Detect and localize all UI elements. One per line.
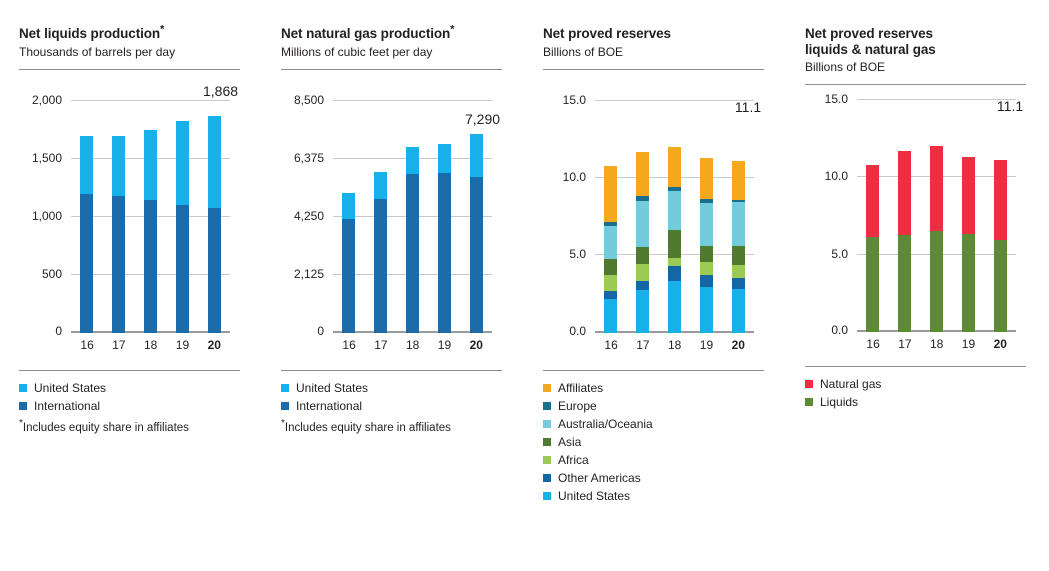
legend-swatch-icon xyxy=(281,384,289,392)
bar-segment xyxy=(208,116,221,209)
legend-item[interactable]: Europe xyxy=(543,397,764,415)
legend-section: AffiliatesEuropeAustralia/OceaniaAsiaAfr… xyxy=(543,370,764,505)
bar[interactable] xyxy=(930,146,943,332)
x-axis-labels-0: 1617181920 xyxy=(71,338,230,352)
bar-segment xyxy=(604,275,617,290)
x-axis-labels-3: 1617181920 xyxy=(857,337,1016,351)
y-axis-tick-label: 0.0 xyxy=(831,323,848,337)
value-callout: 7,290 xyxy=(465,111,500,127)
x-axis-tick-label: 16 xyxy=(604,338,617,352)
bar-segment xyxy=(898,235,911,332)
legend-3: Natural gasLiquids xyxy=(805,375,1026,411)
legend-label: Asia xyxy=(558,435,581,449)
bar[interactable] xyxy=(898,151,911,332)
bar-segment xyxy=(80,194,93,332)
legend-label: International xyxy=(296,399,362,413)
bar-segment xyxy=(636,290,649,333)
legend-swatch-icon xyxy=(543,420,551,428)
x-axis-labels-1: 1617181920 xyxy=(333,338,492,352)
x-axis-tick-label: 16 xyxy=(342,338,355,352)
y-axis-tick-label: 15.0 xyxy=(825,92,848,106)
panel-title: Net natural gas production* xyxy=(281,26,514,42)
bar[interactable] xyxy=(636,152,649,333)
panel-net-liquids-production: Net liquids production* Thousands of bar… xyxy=(0,26,262,505)
panel-title-text: Net natural gas production xyxy=(281,26,450,41)
bar-segment xyxy=(80,136,93,194)
panel-title-text: Net liquids production xyxy=(19,26,160,41)
x-axis-tick-label: 20 xyxy=(208,338,221,352)
legend-label: International xyxy=(34,399,100,413)
x-axis-tick-label: 17 xyxy=(374,338,387,352)
chart-area: 0.05.010.015.0 1617181920 11.1 xyxy=(543,83,776,336)
bar[interactable] xyxy=(470,134,483,333)
chart-area: 0.05.010.015.0 1617181920 11.1 xyxy=(805,82,1038,335)
x-axis-tick-label: 20 xyxy=(994,337,1007,351)
bar[interactable] xyxy=(994,160,1007,332)
bar-segment xyxy=(700,158,713,199)
chart-area: 02,1254,2506,3758,500 1617181920 7,290 xyxy=(281,83,514,336)
y-axis-tick-label: 500 xyxy=(42,267,62,281)
legend-item[interactable]: Africa xyxy=(543,451,764,469)
legend-0: United StatesInternational xyxy=(19,379,240,415)
legend-2: AffiliatesEuropeAustralia/OceaniaAsiaAfr… xyxy=(543,379,764,505)
bar-group xyxy=(857,100,1016,332)
panel-title-line2: liquids & natural gas xyxy=(805,42,936,57)
bar-segment xyxy=(636,264,649,281)
bar-segment xyxy=(374,172,387,199)
bar-segment xyxy=(144,200,157,332)
legend-swatch-icon xyxy=(543,402,551,410)
bar-segment xyxy=(962,234,975,332)
panel-net-proved-reserves: Net proved reserves Billions of BOE 0.05… xyxy=(524,26,786,505)
footnote: *Includes equity share in affiliates xyxy=(19,421,240,435)
bar-segment xyxy=(732,202,745,246)
bar-segment xyxy=(636,247,649,264)
x-axis-tick-label: 18 xyxy=(930,337,943,351)
legend-swatch-icon xyxy=(19,402,27,410)
legend-label: Affiliates xyxy=(558,381,603,395)
legend-label: Australia/Oceania xyxy=(558,417,653,431)
value-callout: 1,868 xyxy=(203,83,238,99)
panel-title-text: Net proved reserves xyxy=(543,26,671,41)
y-axis-tick-label: 4,250 xyxy=(294,209,324,223)
header-divider xyxy=(281,69,502,70)
legend-item[interactable]: Other Americas xyxy=(543,469,764,487)
bar-segment xyxy=(604,299,617,332)
x-axis-tick-label: 17 xyxy=(898,337,911,351)
bar-segment xyxy=(700,287,713,333)
bar-segment xyxy=(176,121,189,205)
legend-divider xyxy=(805,366,1026,367)
bar-segment xyxy=(668,281,681,332)
bar[interactable] xyxy=(438,144,451,332)
bar-segment xyxy=(438,144,451,173)
legend-item[interactable]: United States xyxy=(543,487,764,505)
x-axis-tick-label: 19 xyxy=(176,338,189,352)
legend-1: United StatesInternational xyxy=(281,379,502,415)
bar-segment xyxy=(668,230,681,257)
legend-swatch-icon xyxy=(805,380,813,388)
y-axis-tick-label: 8,500 xyxy=(294,93,324,107)
legend-item[interactable]: Australia/Oceania xyxy=(543,415,764,433)
legend-divider xyxy=(19,370,240,371)
legend-label: United States xyxy=(34,381,106,395)
legend-item[interactable]: Liquids xyxy=(805,393,1026,411)
legend-swatch-icon xyxy=(543,492,551,500)
asterisk-marker: * xyxy=(450,24,454,36)
panel-title: Net proved reservesliquids & natural gas xyxy=(805,26,1038,57)
legend-swatch-icon xyxy=(805,398,813,406)
legend-item[interactable]: United States xyxy=(281,379,502,397)
legend-label: United States xyxy=(296,381,368,395)
bar[interactable] xyxy=(406,147,419,332)
legend-item[interactable]: United States xyxy=(19,379,240,397)
legend-label: Natural gas xyxy=(820,377,881,391)
bar-segment xyxy=(866,237,879,332)
y-axis-tick-label: 6,375 xyxy=(294,151,324,165)
bar-segment xyxy=(962,157,975,234)
y-axis-tick-label: 10.0 xyxy=(825,169,848,183)
plot-2: 0.05.010.015.0 xyxy=(595,101,754,333)
legend-section: United StatesInternational *Includes equ… xyxy=(19,370,240,435)
bar-segment xyxy=(112,196,125,333)
bar[interactable] xyxy=(700,158,713,333)
x-axis-tick-label: 19 xyxy=(700,338,713,352)
panel-title: Net proved reserves xyxy=(543,26,776,42)
panel-subtitle: Billions of BOE xyxy=(543,45,776,60)
bar[interactable] xyxy=(962,157,975,332)
bar-segment xyxy=(994,240,1007,332)
bar[interactable] xyxy=(732,161,745,333)
bar[interactable] xyxy=(866,165,879,332)
chart-area: 05001,0001,5002,000 1617181920 1,868 xyxy=(19,83,252,336)
bar-segment xyxy=(406,147,419,174)
bar-segment xyxy=(342,193,355,220)
bar-segment xyxy=(144,130,157,201)
bar-segment xyxy=(636,201,649,247)
x-axis-tick-label: 17 xyxy=(112,338,125,352)
value-callout: 11.1 xyxy=(735,99,761,115)
bar-segment xyxy=(112,136,125,195)
panel-subtitle: Thousands of barrels per day xyxy=(19,45,252,60)
bar-segment xyxy=(470,134,483,178)
legend-swatch-icon xyxy=(543,474,551,482)
y-axis-tick-label: 0 xyxy=(55,324,62,338)
bar[interactable] xyxy=(604,166,617,333)
bar[interactable] xyxy=(176,121,189,332)
legend-label: Europe xyxy=(558,399,597,413)
plot-3: 0.05.010.015.0 xyxy=(857,100,1016,332)
legend-item[interactable]: Asia xyxy=(543,433,764,451)
bar[interactable] xyxy=(80,136,93,332)
bar-segment xyxy=(732,265,745,278)
legend-swatch-icon xyxy=(543,384,551,392)
footnote-text: Includes equity share in affiliates xyxy=(23,422,189,434)
x-axis-tick-label: 19 xyxy=(962,337,975,351)
bar-segment xyxy=(208,208,221,332)
bar-segment xyxy=(176,205,189,333)
bar-segment xyxy=(374,199,387,332)
legend-swatch-icon xyxy=(543,438,551,446)
bar-segment xyxy=(438,173,451,332)
bar-segment xyxy=(604,166,617,222)
x-axis-tick-label: 20 xyxy=(732,338,745,352)
x-axis-tick-label: 19 xyxy=(438,338,451,352)
value-callout: 11.1 xyxy=(997,98,1023,114)
legend-label: Other Americas xyxy=(558,471,641,485)
bar-segment xyxy=(700,275,713,287)
panel-title-line1: Net proved reserves xyxy=(805,26,933,41)
legend-swatch-icon xyxy=(19,384,27,392)
legend-label: Africa xyxy=(558,453,589,467)
legend-divider xyxy=(281,370,502,371)
bar-segment xyxy=(636,281,649,290)
bar[interactable] xyxy=(342,193,355,333)
y-axis-tick-label: 10.0 xyxy=(563,170,586,184)
plot-0: 05001,0001,5002,000 xyxy=(71,101,230,333)
bar-segment xyxy=(866,165,879,237)
bar-segment xyxy=(406,174,419,332)
bar[interactable] xyxy=(144,130,157,333)
legend-item[interactable]: Natural gas xyxy=(805,375,1026,393)
bar-segment xyxy=(994,160,1007,240)
plot-1: 02,1254,2506,3758,500 xyxy=(333,101,492,333)
bar-segment xyxy=(930,146,943,230)
panel-subtitle: Millions of cubic feet per day xyxy=(281,45,514,60)
bar-segment xyxy=(668,258,681,267)
legend-swatch-icon xyxy=(281,402,289,410)
bar-segment xyxy=(470,177,483,332)
x-axis-labels-2: 1617181920 xyxy=(595,338,754,352)
x-axis-tick-label: 18 xyxy=(144,338,157,352)
bar-segment xyxy=(898,151,911,235)
y-axis-tick-label: 2,000 xyxy=(32,93,62,107)
panel-title: Net liquids production* xyxy=(19,26,252,42)
y-axis-tick-label: 1,000 xyxy=(32,209,62,223)
bar-segment xyxy=(668,147,681,187)
bar-segment xyxy=(668,191,681,230)
y-axis-tick-label: 0 xyxy=(317,324,324,338)
y-axis-tick-label: 5.0 xyxy=(569,247,586,261)
legend-item[interactable]: Affiliates xyxy=(543,379,764,397)
x-axis-tick-label: 20 xyxy=(470,338,483,352)
bar-segment xyxy=(604,226,617,259)
bar[interactable] xyxy=(668,147,681,333)
legend-item[interactable]: International xyxy=(281,397,502,415)
bar[interactable] xyxy=(374,172,387,333)
legend-section: Natural gasLiquids xyxy=(805,366,1026,411)
x-axis-tick-label: 18 xyxy=(406,338,419,352)
footnote: *Includes equity share in affiliates xyxy=(281,421,502,435)
bar-segment xyxy=(604,259,617,275)
bar-segment xyxy=(342,219,355,332)
bar-segment xyxy=(700,246,713,262)
y-axis-tick-label: 1,500 xyxy=(32,151,62,165)
charts-container: Net liquids production* Thousands of bar… xyxy=(0,0,1049,505)
y-axis-tick-label: 15.0 xyxy=(563,93,586,107)
x-axis-tick-label: 17 xyxy=(636,338,649,352)
bar-segment xyxy=(700,203,713,246)
panel-net-proved-reserves-liquids-gas: Net proved reservesliquids & natural gas… xyxy=(786,26,1048,505)
legend-divider xyxy=(543,370,764,371)
x-axis-tick-label: 16 xyxy=(80,338,93,352)
bar-segment xyxy=(636,152,649,197)
bar-segment xyxy=(732,289,745,332)
bar-segment xyxy=(732,161,745,200)
bar-group xyxy=(71,101,230,333)
y-axis-tick-label: 2,125 xyxy=(294,267,324,281)
y-axis-tick-label: 0.0 xyxy=(569,324,586,338)
legend-item[interactable]: International xyxy=(19,397,240,415)
asterisk-marker: * xyxy=(160,24,164,36)
header-divider xyxy=(543,69,764,70)
bar-group xyxy=(595,101,754,333)
bar-segment xyxy=(668,266,681,281)
y-axis-tick-label: 5.0 xyxy=(831,247,848,261)
bar-segment xyxy=(732,246,745,265)
legend-label: United States xyxy=(558,489,630,503)
bar-segment xyxy=(732,278,745,289)
legend-section: United StatesInternational *Includes equ… xyxy=(281,370,502,435)
bar-segment xyxy=(604,291,617,300)
legend-swatch-icon xyxy=(543,456,551,464)
x-axis-tick-label: 16 xyxy=(866,337,879,351)
panel-net-natural-gas-production: Net natural gas production* Millions of … xyxy=(262,26,524,505)
header-divider xyxy=(19,69,240,70)
bar[interactable] xyxy=(112,136,125,332)
x-axis-tick-label: 18 xyxy=(668,338,681,352)
footnote-text: Includes equity share in affiliates xyxy=(285,422,451,434)
bar-segment xyxy=(700,262,713,274)
legend-label: Liquids xyxy=(820,395,858,409)
bar-segment xyxy=(930,231,943,332)
bar[interactable] xyxy=(208,116,221,333)
bar-group xyxy=(333,101,492,333)
panel-subtitle: Billions of BOE xyxy=(805,60,1038,75)
